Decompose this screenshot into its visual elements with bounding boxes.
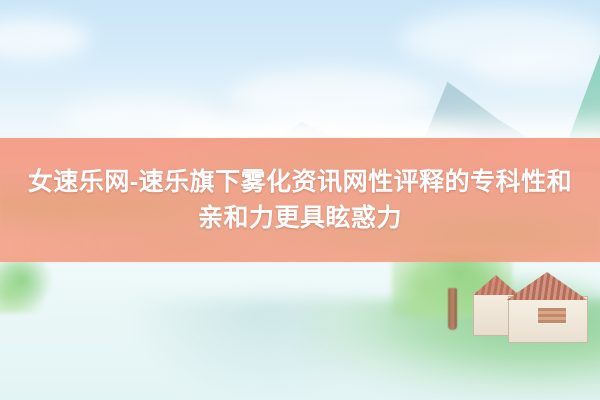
headline-line-2: 亲和力更具眩惑力 [198,201,402,235]
headline-text-block: 女速乐网-速乐旗下雾化资讯网性评释的专科性和 亲和力更具眩惑力 [0,138,600,262]
headline-band: 女速乐网-速乐旗下雾化资讯网性评释的专科性和 亲和力更具眩惑力 [0,138,600,262]
banner-image: 女速乐网-速乐旗下雾化资讯网性评释的专科性和 亲和力更具眩惑力 [0,0,600,400]
headline-line-1: 女速乐网-速乐旗下雾化资讯网性评释的专科性和 [28,165,572,199]
pale-foreground [0,245,600,400]
